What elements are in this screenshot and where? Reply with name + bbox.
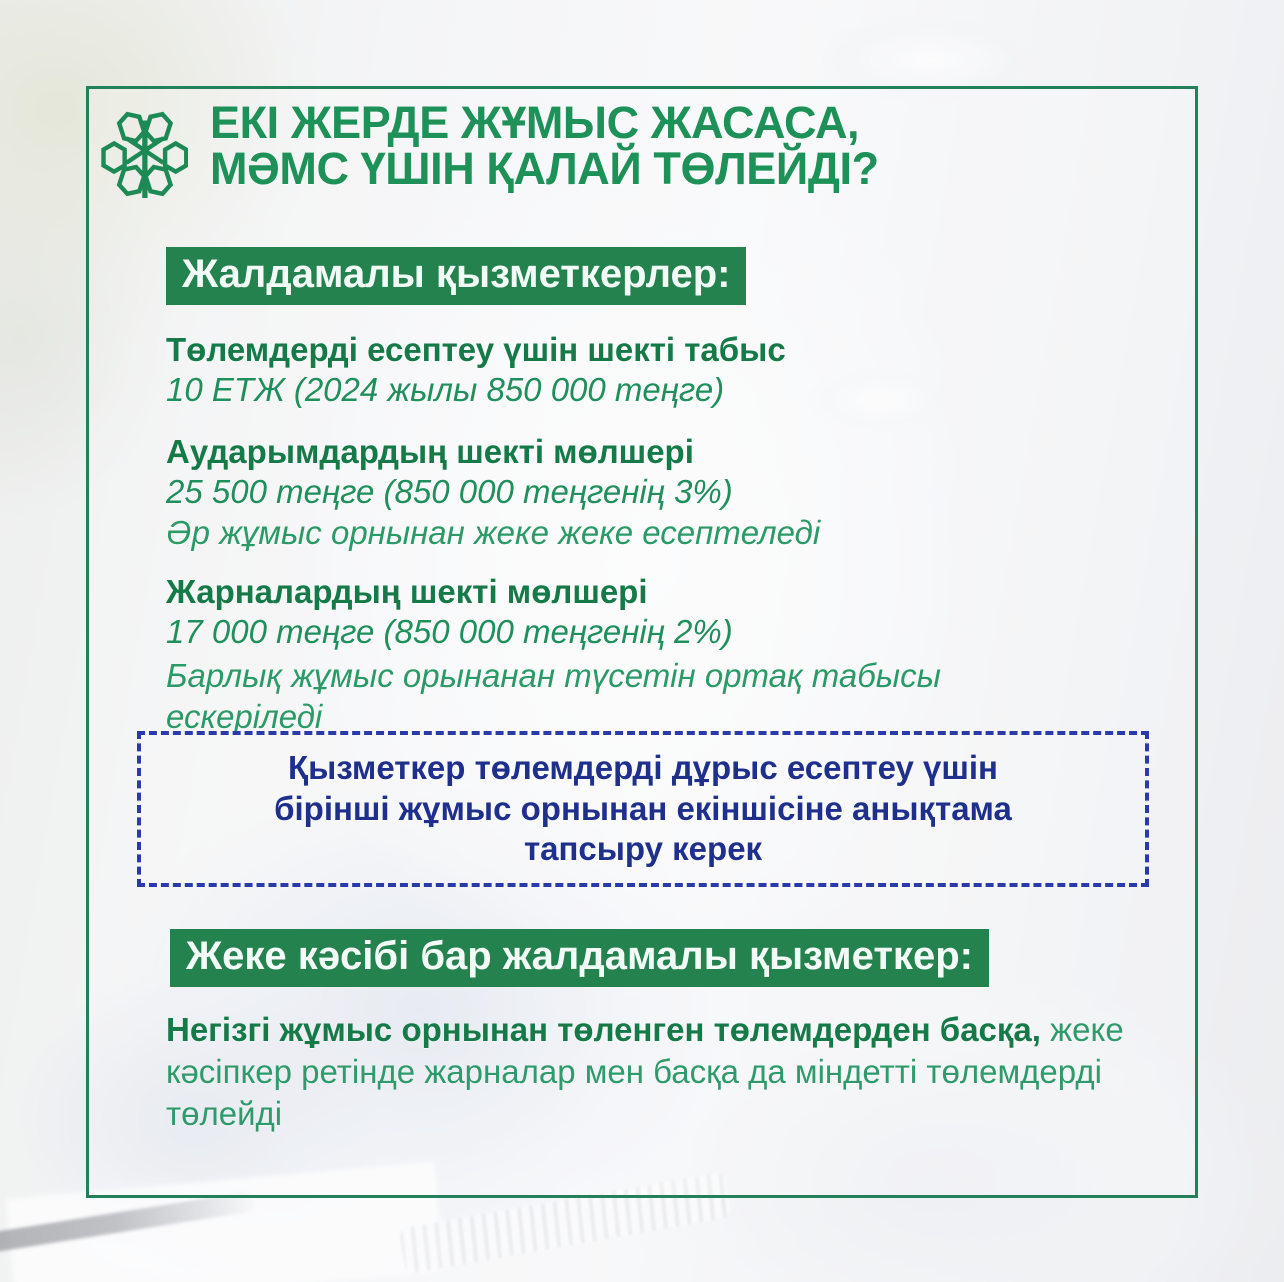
section-banner-label: Жалдамалы қызметкерлер: bbox=[182, 252, 730, 297]
contribution-limit-note: Барлық жұмыс орынанан түсетін ортақ табы… bbox=[166, 655, 1106, 738]
transfer-limit-value: 25 500 теңге (850 000 теңгенің 3%) bbox=[166, 472, 1066, 512]
section-banner-hired-employees: Жалдамалы қызметкерлер: bbox=[166, 247, 746, 305]
callout-text: Қызметкер төлемдерді дұрыс есептеу үшін … bbox=[274, 748, 1012, 871]
final-paragraph: Негізгі жұмыс орнынан төленген төлемдерд… bbox=[166, 1009, 1126, 1135]
income-limit-heading: Төлемдерді есептеу үшін шекті табыс bbox=[166, 330, 1066, 370]
block-income-limit: Төлемдерді есептеу үшін шекті табыс 10 Е… bbox=[166, 330, 1066, 410]
block-transfer-limit: Аударымдардың шекті мөлшері 25 500 теңге… bbox=[166, 432, 1066, 512]
contribution-limit-heading: Жарналардың шекті мөлшері bbox=[166, 572, 1066, 612]
block-contribution-limit-note: Барлық жұмыс орынанан түсетін ортақ табы… bbox=[166, 655, 1106, 738]
income-limit-value: 10 ЕТЖ (2024 жылы 850 000 теңге) bbox=[166, 370, 1066, 410]
page-title: ЕКІ ЖЕРДЕ ЖҰМЫС ЖАСАСА, МӘМС ҮШІН ҚАЛАЙ … bbox=[210, 100, 879, 192]
block-contribution-limit: Жарналардың шекті мөлшері 17 000 теңге (… bbox=[166, 572, 1066, 652]
poster-header: ЕКІ ЖЕРДЕ ЖҰМЫС ЖАСАСА, МӘМС ҮШІН ҚАЛАЙ … bbox=[100, 100, 1180, 200]
infographic-poster: ЕКІ ЖЕРДЕ ЖҰМЫС ЖАСАСА, МӘМС ҮШІН ҚАЛАЙ … bbox=[0, 0, 1284, 1282]
callout-dashed-box: Қызметкер төлемдерді дұрыс есептеу үшін … bbox=[137, 731, 1149, 887]
kazakh-ornament-hexagon-flower-logo-icon bbox=[100, 108, 188, 200]
transfer-limit-note: Әр жұмыс орнынан жеке жеке есептеледі bbox=[166, 512, 1066, 553]
final-paragraph-bold-lead: Негізгі жұмыс орнынан төленген төлемдерд… bbox=[166, 1011, 1041, 1048]
block-transfer-limit-note: Әр жұмыс орнынан жеке жеке есептеледі bbox=[166, 512, 1066, 553]
transfer-limit-heading: Аударымдардың шекті мөлшері bbox=[166, 432, 1066, 472]
section-banner-label: Жеке кәсібі бар жалдамалы қызметкер: bbox=[186, 934, 973, 979]
section-banner-own-business: Жеке кәсібі бар жалдамалы қызметкер: bbox=[170, 929, 989, 987]
contribution-limit-value: 17 000 теңге (850 000 теңгенің 2%) bbox=[166, 612, 1066, 652]
